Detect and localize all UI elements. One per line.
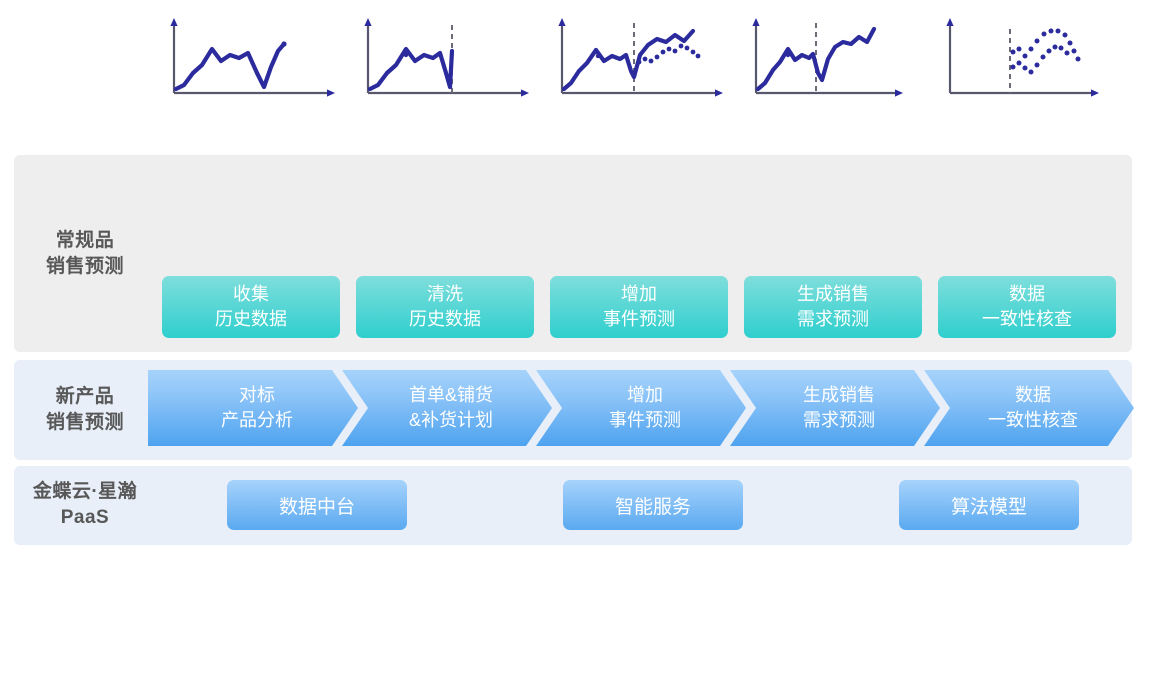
step-pill-clean-history[interactable]: 清洗 历史数据 — [356, 276, 534, 338]
pill-line1: 生成销售 — [797, 282, 869, 307]
chevron-line2: 需求预测 — [795, 408, 875, 433]
chevron-line1: 增加 — [619, 383, 663, 408]
row-label-paas: 金蝶云·星瀚 PaaS — [18, 479, 152, 531]
row-label-paas-line2: PaaS — [18, 505, 152, 531]
chevron-line2: 事件预测 — [601, 408, 681, 433]
row-label-new-product: 新产品 销售预测 — [18, 384, 152, 436]
row-label-paas-line1: 金蝶云·星瀚 — [33, 481, 137, 502]
pill-line2: 一致性核查 — [982, 307, 1072, 332]
chevron-step-generate-demand-forecast[interactable]: 生成销售 需求预测 — [730, 370, 940, 446]
chevron-line1: 数据 — [1007, 383, 1051, 408]
chevron-line1: 首单&铺货 — [401, 383, 493, 408]
chevron-step-add-event-forecast[interactable]: 增加 事件预测 — [536, 370, 746, 446]
chevron-step-data-consistency-check[interactable]: 数据 一致性核查 — [924, 370, 1134, 446]
chevron-line1: 对标 — [231, 383, 275, 408]
row-label-new-line1: 新产品 — [56, 386, 115, 407]
chart-add-event-forecast — [548, 15, 732, 107]
chevron-line2: 产品分析 — [213, 408, 293, 433]
step-pill-generate-demand-forecast[interactable]: 生成销售 需求预测 — [744, 276, 922, 338]
pill-line1: 清洗 — [427, 282, 463, 307]
paas-button-algorithm-model[interactable]: 算法模型 — [899, 480, 1079, 530]
pill-line1: 增加 — [621, 282, 657, 307]
row-label-regular-product: 常规品 销售预测 — [18, 228, 152, 280]
chart-collect-history — [160, 15, 344, 107]
chevron-step-benchmark-product-analysis[interactable]: 对标 产品分析 — [148, 370, 358, 446]
pill-line2: 历史数据 — [215, 307, 287, 332]
pill-line2: 历史数据 — [409, 307, 481, 332]
pill-line1: 收集 — [233, 282, 269, 307]
paas-button-label: 数据中台 — [279, 492, 355, 519]
chevron-line2: &补货计划 — [401, 408, 493, 433]
paas-button-label: 智能服务 — [615, 492, 691, 519]
paas-button-label: 算法模型 — [951, 492, 1027, 519]
chart-generate-demand-forecast — [742, 15, 926, 107]
pill-line2: 事件预测 — [603, 307, 675, 332]
row-label-regular-line2: 销售预测 — [18, 254, 152, 280]
pill-line1: 数据 — [1009, 282, 1045, 307]
diagram-canvas: 常规品 销售预测 — [0, 0, 1152, 700]
row-label-regular-line1: 常规品 — [56, 230, 115, 251]
paas-button-data-midend[interactable]: 数据中台 — [227, 480, 407, 530]
step-pill-collect-history[interactable]: 收集 历史数据 — [162, 276, 340, 338]
step-pill-add-event-forecast[interactable]: 增加 事件预测 — [550, 276, 728, 338]
paas-button-intelligent-service[interactable]: 智能服务 — [563, 480, 743, 530]
row-label-new-line2: 销售预测 — [18, 410, 152, 436]
chart-clean-history — [354, 15, 538, 107]
chevron-line1: 生成销售 — [795, 383, 875, 408]
pill-line2: 需求预测 — [797, 307, 869, 332]
chevron-line2: 一致性核查 — [980, 408, 1078, 433]
step-pill-data-consistency-check[interactable]: 数据 一致性核查 — [938, 276, 1116, 338]
chevron-step-first-order-replenishment[interactable]: 首单&铺货 &补货计划 — [342, 370, 552, 446]
chart-data-consistency-check — [936, 15, 1120, 107]
